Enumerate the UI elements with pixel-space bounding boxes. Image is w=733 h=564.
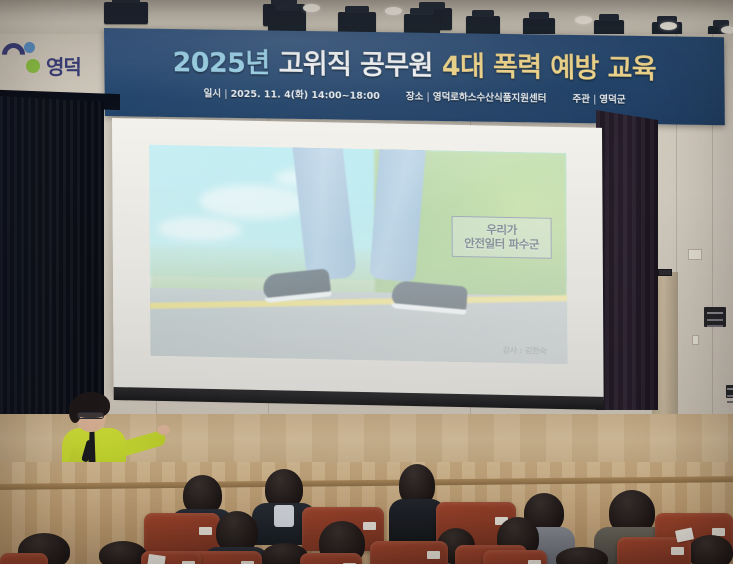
wall-sign (704, 307, 726, 327)
slide-caption-line-1: 우리가 (464, 222, 539, 238)
banner-separator: | (224, 89, 228, 100)
stage-curtain-right (596, 110, 658, 410)
banner-host-value: 영덕군 (599, 94, 625, 105)
attendee-head (688, 535, 733, 564)
banner-separator: | (426, 92, 430, 103)
banner-date: 일시|2025. 11. 4(화) 14:00~18:00 (204, 85, 380, 102)
projection-screen: 우리가 안전일터 파수군 강사 : 김한숙 (112, 118, 604, 400)
wall-outlet-panel (726, 385, 733, 398)
ceiling-downlight-icon (575, 16, 592, 24)
banner-host-label: 주관 (572, 94, 590, 105)
banner-title-year: 2025년 (172, 47, 269, 79)
ceiling-downlight-icon (303, 4, 320, 12)
banner-subtitle: 일시|2025. 11. 4(화) 14:00~18:00 장소|영덕로하스수산… (204, 85, 626, 105)
auditorium-photo-scene: 2025년고위직 공무원4대 폭력 예방 교육 일시|2025. 11. 4(화… (0, 0, 733, 564)
wall-switch-plate[interactable] (692, 335, 699, 345)
banner-place-label: 장소 (406, 91, 424, 102)
banner-date-value: 2025. 11. 4(화) 14:00~18:00 (231, 89, 380, 102)
attendee-head (556, 547, 608, 564)
banner-title: 2025년고위직 공무원4대 폭력 예방 교육 (172, 49, 656, 83)
auditorium-seat[interactable] (0, 553, 48, 564)
logo-mark-icon (2, 39, 44, 79)
banner-separator: | (593, 94, 597, 105)
logo-label: 영덕 (46, 51, 81, 80)
auditorium-seat[interactable] (300, 553, 362, 564)
slide-shoe-right (391, 280, 468, 312)
handout-paper (147, 554, 166, 564)
ceiling-downlight-icon (660, 22, 677, 30)
slide-instructor-credit: 강사 : 김한숙 (503, 344, 547, 356)
wall-speaker-bracket (658, 269, 672, 276)
banner-place-value: 영덕로하스수산식품지원센터 (433, 92, 547, 105)
auditorium-seat[interactable] (483, 550, 547, 564)
ceiling-fixture-icon (268, 10, 306, 32)
auditorium-seat[interactable] (370, 541, 448, 564)
wall-thermostat-box (688, 249, 702, 260)
banner-title-audience: 고위직 공무원 (278, 49, 433, 82)
ceiling-downlight-icon (385, 7, 402, 15)
attendee-shirt (274, 505, 294, 527)
presenter-hand (157, 425, 170, 435)
venue-logo: 영덕 (2, 32, 90, 86)
slide-shoe-left (261, 269, 330, 301)
ceiling-downlight-icon (721, 26, 733, 34)
ceiling-fixture-icon (104, 2, 148, 24)
banner-title-topic: 4대 폭력 예방 교육 (442, 51, 657, 85)
event-banner: 2025년고위직 공무원4대 폭력 예방 교육 일시|2025. 11. 4(화… (104, 28, 725, 125)
projected-slide: 우리가 안전일터 파수군 강사 : 김한숙 (149, 145, 567, 364)
attendee-head (99, 541, 147, 564)
banner-date-label: 일시 (204, 88, 222, 99)
slide-caption-line-2: 안전일터 파수군 (464, 236, 539, 252)
audience (0, 455, 733, 564)
banner-host: 주관|영덕군 (572, 91, 625, 106)
slide-caption-box: 우리가 안전일터 파수군 (451, 216, 552, 259)
banner-place: 장소|영덕로하스수산식품지원센터 (406, 88, 547, 104)
glasses-icon (77, 412, 104, 419)
